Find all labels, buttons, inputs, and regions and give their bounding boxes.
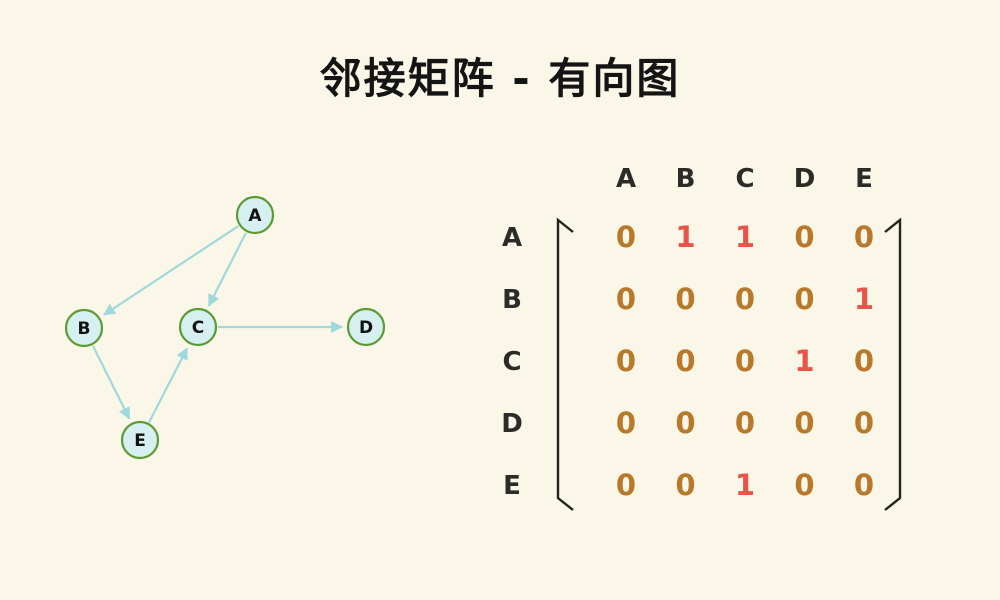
matrix-cell-a-e: 0 (844, 223, 884, 252)
matrix-cell-d-e: 0 (844, 409, 884, 438)
matrix-cell-a-a: 0 (606, 223, 646, 252)
adjacency-matrix: ABCDEA01100B00001C00010D00000E00100 (470, 150, 970, 530)
matrix-col-header-b: B (666, 166, 706, 192)
node-label: B (78, 319, 91, 339)
matrix-brackets (470, 150, 970, 530)
node-label: E (134, 431, 146, 451)
matrix-row-header-a: A (492, 225, 532, 251)
matrix-cell-c-a: 0 (606, 347, 646, 376)
graph-diagram: ABCDE (0, 140, 450, 520)
matrix-cell-b-d: 0 (785, 285, 825, 314)
graph-edge-a-to-c (209, 233, 246, 306)
matrix-cell-b-e: 1 (844, 285, 884, 314)
matrix-cell-b-c: 0 (725, 285, 765, 314)
page-title: 邻接矩阵 - 有向图 (0, 45, 1000, 106)
matrix-col-header-c: C (725, 166, 765, 192)
matrix-row-header-d: D (492, 411, 532, 437)
matrix-col-header-d: D (785, 166, 825, 192)
node-label: C (192, 318, 204, 338)
matrix-col-header-e: E (844, 166, 884, 192)
node-label: A (248, 206, 262, 226)
edge-layer (93, 226, 342, 422)
matrix-cell-c-e: 0 (844, 347, 884, 376)
graph-edge-e-to-c (149, 348, 187, 422)
graph-node-a[interactable]: A (237, 197, 273, 233)
matrix-cell-a-c: 1 (725, 223, 765, 252)
matrix-cell-e-d: 0 (785, 471, 825, 500)
graph-node-c[interactable]: C (180, 309, 216, 345)
graph-canvas: ABCDE (0, 140, 450, 520)
matrix-row-header-b: B (492, 287, 532, 313)
matrix-cell-e-c: 1 (725, 471, 765, 500)
graph-edge-a-to-b (104, 226, 238, 315)
matrix-cell-c-d: 1 (785, 347, 825, 376)
matrix-cell-d-c: 0 (725, 409, 765, 438)
graph-node-d[interactable]: D (348, 309, 384, 345)
matrix-cell-b-b: 0 (666, 285, 706, 314)
graph-node-e[interactable]: E (122, 422, 158, 458)
matrix-row-header-c: C (492, 349, 532, 375)
matrix-cell-d-b: 0 (666, 409, 706, 438)
graph-edge-b-to-e (93, 346, 129, 419)
right-bracket-icon (885, 220, 900, 510)
matrix-col-header-a: A (606, 166, 646, 192)
page-root: 邻接矩阵 - 有向图 ABCDE ABCDEA01100B00001C00010… (0, 0, 1000, 600)
matrix-cell-e-b: 0 (666, 471, 706, 500)
node-label: D (359, 318, 373, 338)
matrix-row-header-e: E (492, 473, 532, 499)
left-bracket-icon (558, 220, 573, 510)
matrix-cell-a-d: 0 (785, 223, 825, 252)
matrix-cell-c-c: 0 (725, 347, 765, 376)
matrix-cell-d-a: 0 (606, 409, 646, 438)
matrix-cell-e-e: 0 (844, 471, 884, 500)
matrix-cell-a-b: 1 (666, 223, 706, 252)
matrix-cell-d-d: 0 (785, 409, 825, 438)
matrix-cell-b-a: 0 (606, 285, 646, 314)
matrix-cell-e-a: 0 (606, 471, 646, 500)
graph-node-b[interactable]: B (66, 310, 102, 346)
matrix-cell-c-b: 0 (666, 347, 706, 376)
